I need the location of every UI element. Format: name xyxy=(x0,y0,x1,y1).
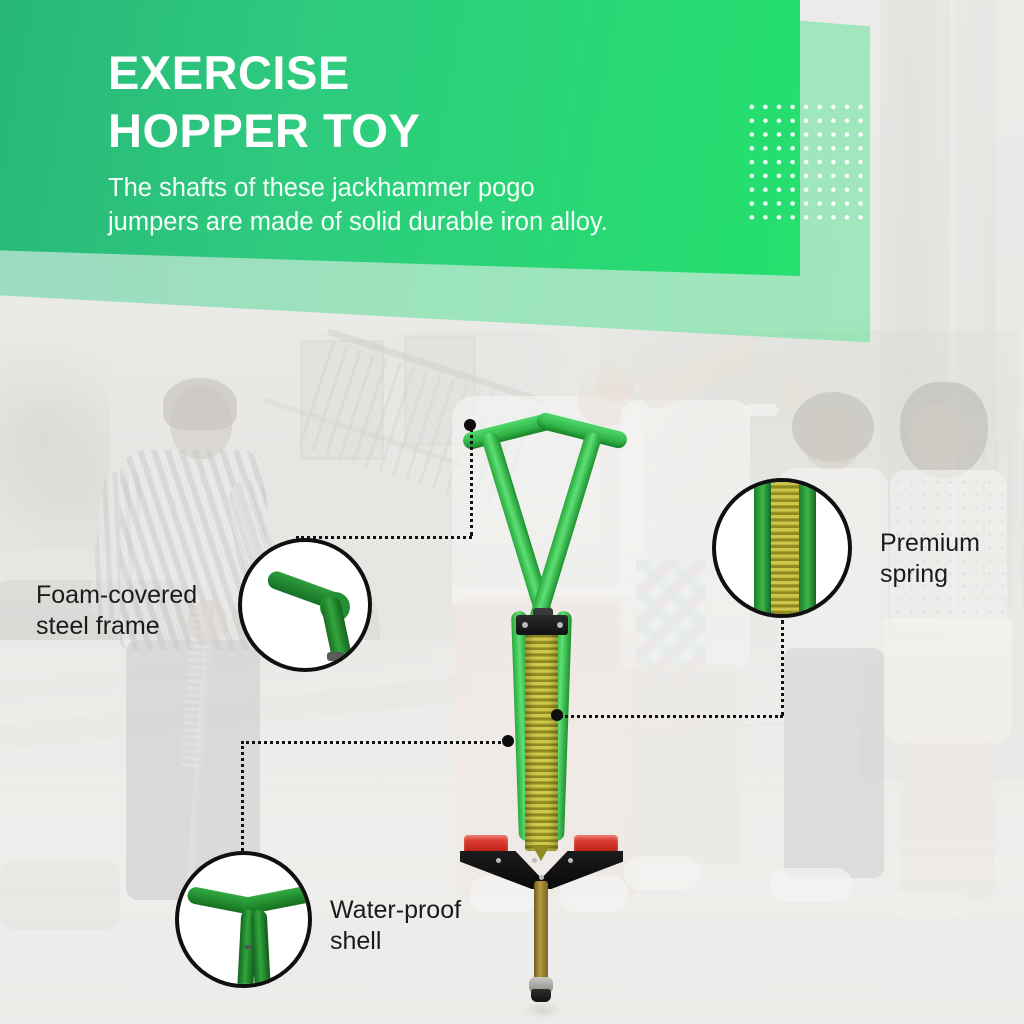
clamp-bolt xyxy=(557,622,563,628)
zoom-shaft-left xyxy=(754,482,771,618)
page-subtitle-line2: jumpers are made of solid durable iron a… xyxy=(108,205,808,239)
callout-label-line1: Foam-covered xyxy=(36,580,236,611)
clamp-bolt xyxy=(522,622,528,628)
zoom-shell-stem-right xyxy=(251,910,272,988)
callout-anchor-dot-shell xyxy=(502,735,514,747)
callout-label-foam-covered-steel-frame: Foam-covered steel frame xyxy=(36,580,236,642)
page-title-line1: EXERCISE xyxy=(108,44,808,102)
base-bolt xyxy=(532,858,537,863)
page-subtitle-line1: The shafts of these jackhammer pogo xyxy=(108,171,808,205)
base-bolt xyxy=(496,858,501,863)
callout-anchor-dot-spring xyxy=(551,709,563,721)
callout-label-line1: Premium xyxy=(880,528,1020,559)
callout-connector-spring-vertical xyxy=(781,620,784,716)
header-text-block: EXERCISE HOPPER TOY The shafts of these … xyxy=(108,44,808,239)
callout-anchor-dot-frame xyxy=(464,419,476,431)
callout-label-premium-spring: Premium spring xyxy=(880,528,1020,590)
callout-label-line2: steel frame xyxy=(36,611,236,642)
base-bolt xyxy=(539,875,544,880)
zoom-shaft-right xyxy=(799,482,816,618)
callout-label-line2: shell xyxy=(330,926,510,957)
callout-magnifier-premium-spring xyxy=(712,478,852,618)
lower-pole xyxy=(534,881,548,987)
callout-magnifier-water-proof-shell xyxy=(175,851,312,988)
zoom-spring-assembly xyxy=(716,482,848,614)
callout-connector-shell-vertical xyxy=(241,741,244,851)
base-bolt xyxy=(568,858,573,863)
callout-label-line1: Water-proof xyxy=(330,895,510,926)
zoom-foam-tube-end xyxy=(327,652,344,661)
coil-spring xyxy=(525,631,558,851)
callout-connector-frame-vertical xyxy=(470,428,473,536)
foot-shadow xyxy=(522,1001,562,1019)
callout-connector-spring-horizontal xyxy=(560,715,783,718)
infographic-canvas: EXERCISE HOPPER TOY The shafts of these … xyxy=(0,0,1024,1024)
callout-magnifier-foam-covered-steel-frame xyxy=(238,538,372,672)
page-subtitle: The shafts of these jackhammer pogo jump… xyxy=(108,171,808,239)
callout-label-line2: spring xyxy=(880,559,1020,590)
zoom-shell-fastener xyxy=(245,945,252,949)
callout-label-water-proof-shell: Water-proof shell xyxy=(330,895,510,957)
zoom-coil-spring xyxy=(771,482,799,618)
page-title-line2: HOPPER TOY xyxy=(108,102,808,160)
callout-connector-frame-horizontal xyxy=(296,536,472,539)
callout-connector-shell-horizontal xyxy=(241,741,507,744)
